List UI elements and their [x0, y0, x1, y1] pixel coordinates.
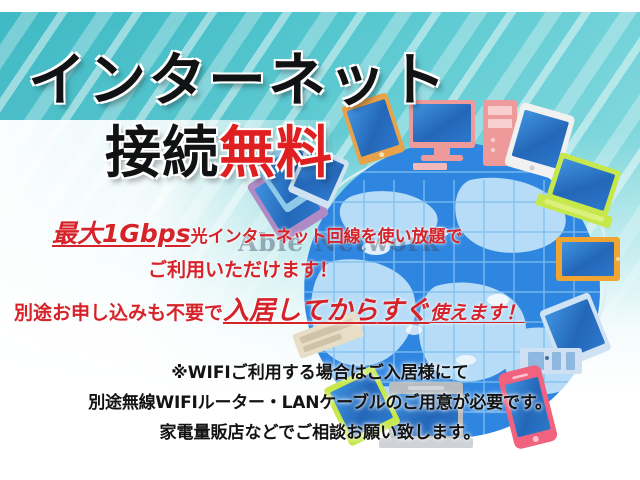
bottom-white-band	[0, 455, 640, 480]
top-white-band	[0, 0, 640, 12]
device-tablet-right-lower	[556, 237, 620, 281]
network-devices-illustration	[0, 0, 640, 480]
advertisement-poster: インターネット 接続無料 Able Network 最大1Gbps光インターネッ…	[0, 0, 640, 480]
